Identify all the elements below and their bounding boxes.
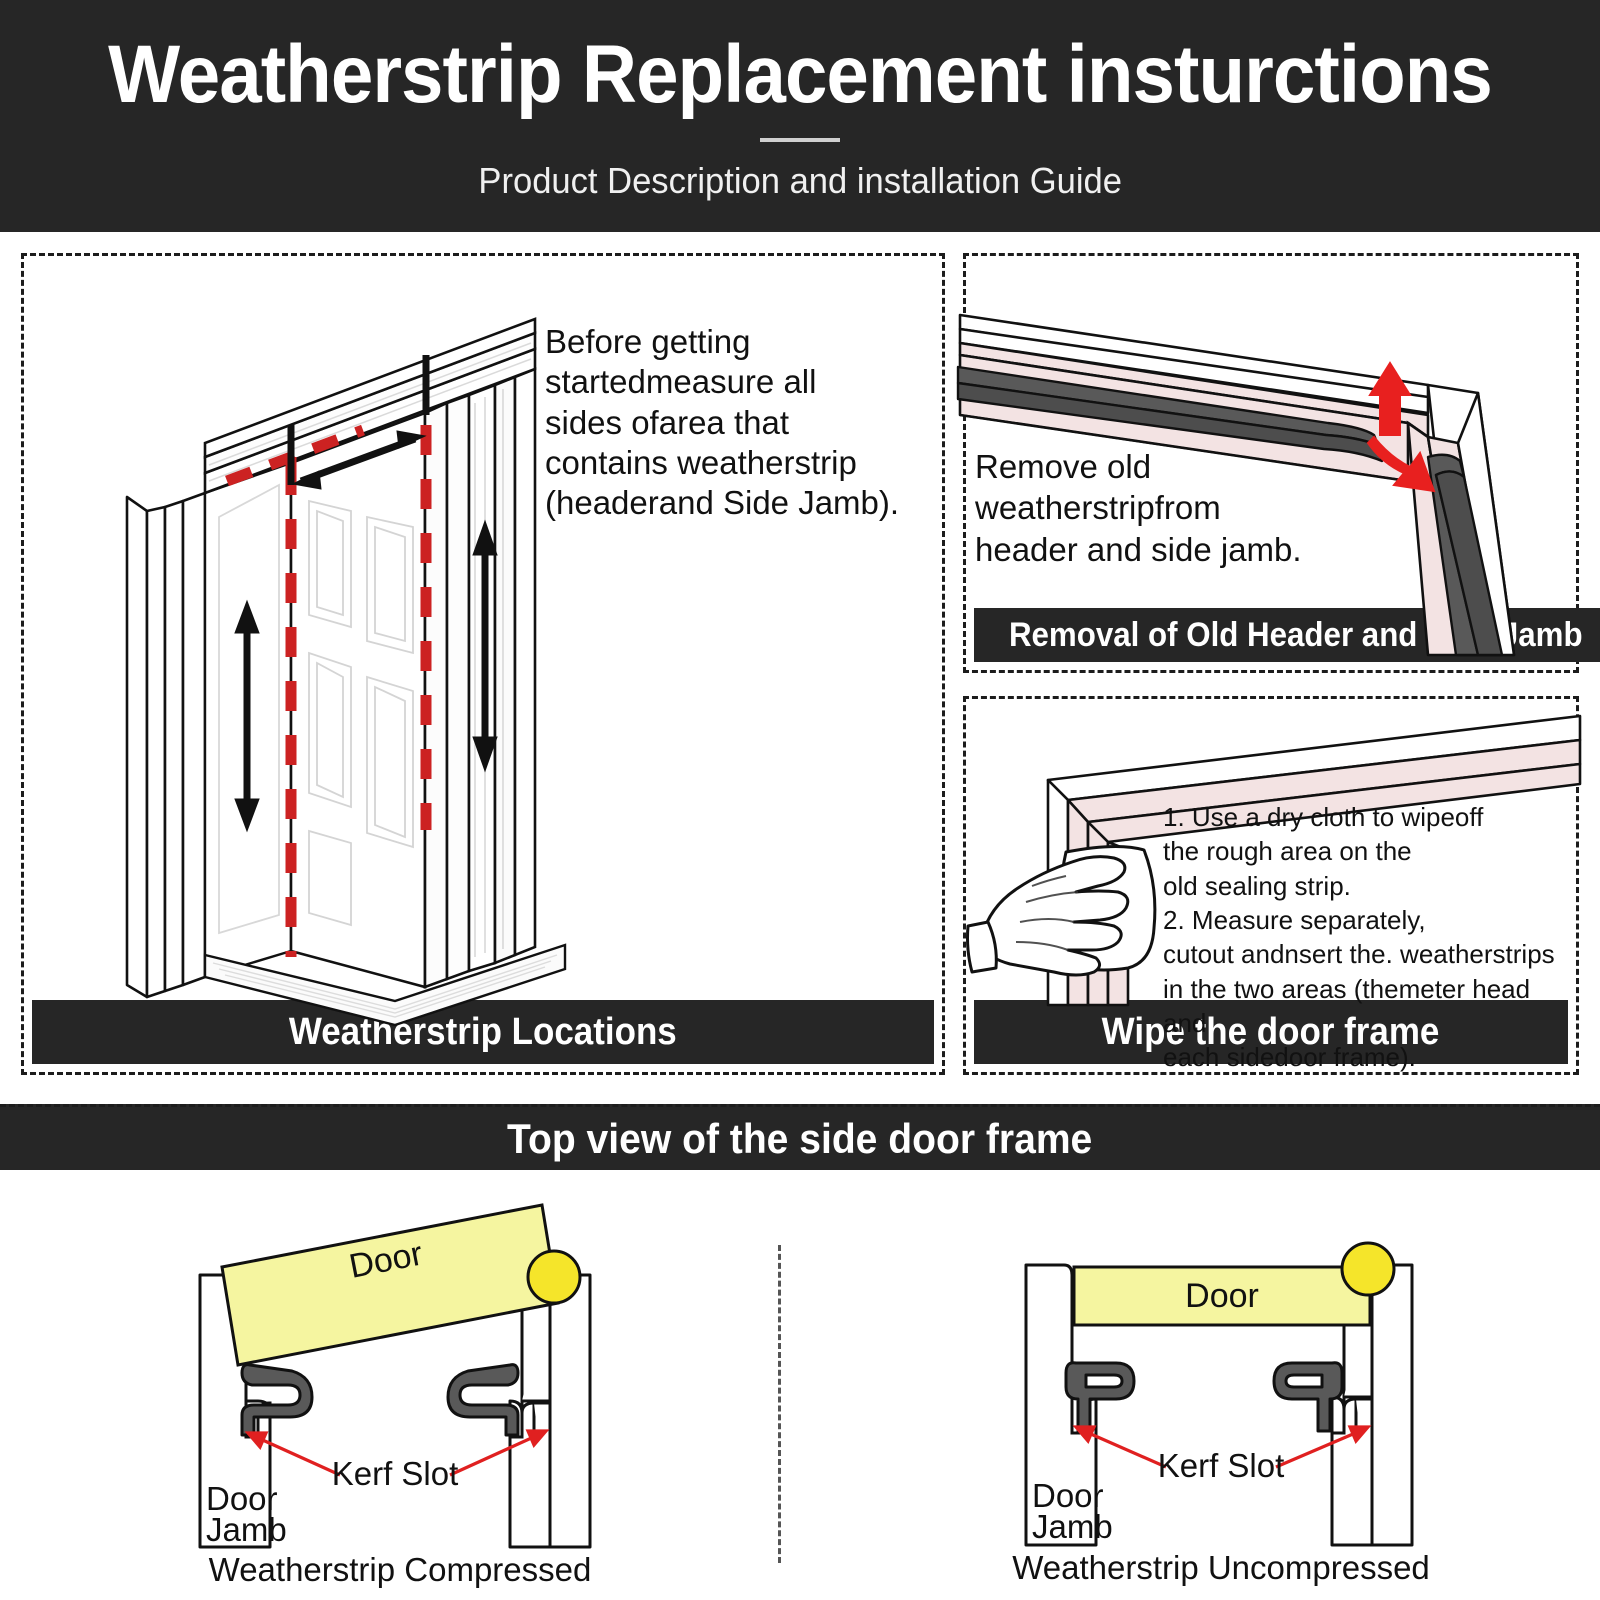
text-line: 2. Measure separately,: [1163, 903, 1573, 937]
text-line: in the two areas (themeter head and: [1163, 972, 1573, 1041]
door-label-right: Door: [1185, 1277, 1259, 1315]
door-jamb-label-left-line2: Jamb: [206, 1511, 287, 1548]
text-line: Before getting: [545, 322, 915, 362]
page-title: Weatherstrip Replacement insturctions: [108, 34, 1492, 116]
locations-instruction-text: Before getting startedmeasure all sides …: [545, 322, 915, 523]
text-line: old sealing strip.: [1163, 869, 1573, 903]
kerf-slot-label-right: Kerf Slot: [1158, 1447, 1285, 1484]
text-line: each sidedoor frame).: [1163, 1040, 1573, 1074]
door-frame-isometric-diagram: [95, 285, 565, 1025]
wipe-instruction-text: 1. Use a dry cloth to wipeoff the rough …: [1163, 800, 1573, 1075]
door-knob-icon: [528, 1251, 580, 1303]
door-jamb-label-right-line2: Jamb: [1032, 1508, 1113, 1545]
topview-right-caption: Weatherstrip Uncompressed: [1012, 1549, 1430, 1586]
page-subtitle: Product Description and installation Gui…: [478, 160, 1122, 202]
text-line: the rough area on the: [1163, 834, 1573, 868]
topview-uncompressed-diagram: Door Kerf Slot Door Jamb Weathe: [968, 1185, 1468, 1585]
door-panel-tilted: [222, 1205, 558, 1365]
title-divider: [760, 138, 840, 142]
topview-center-divider: [778, 1245, 781, 1563]
removal-instruction-text: Remove old weatherstripfrom header and s…: [975, 446, 1325, 570]
text-line: Remove old: [975, 446, 1325, 487]
text-line: contains weatherstrip: [545, 443, 915, 483]
door-knob-icon: [1342, 1243, 1394, 1295]
topview-title: Top view of the side door frame: [507, 1115, 1092, 1163]
text-line: 1. Use a dry cloth to wipeoff: [1163, 800, 1573, 834]
text-line: sides ofarea that: [545, 403, 915, 443]
weatherstrip-seal-right-compressed: [448, 1365, 518, 1435]
topview-section-header: Top view of the side door frame: [0, 1104, 1600, 1170]
text-line: cutout andnsert the. weatherstrips: [1163, 937, 1573, 971]
text-line: header and side jamb.: [975, 529, 1325, 570]
text-line: startedmeasure all: [545, 362, 915, 402]
text-line: weatherstripfrom: [975, 487, 1325, 528]
topview-compressed-diagram: Door Kerf Slot Door Jamb: [150, 1185, 650, 1585]
infographic-page: Weatherstrip Replacement insturctions Pr…: [0, 0, 1600, 1600]
kerf-slot-label-left: Kerf Slot: [332, 1455, 459, 1492]
text-line: (headerand Side Jamb).: [545, 483, 915, 523]
page-header: Weatherstrip Replacement insturctions Pr…: [0, 0, 1600, 232]
topview-left-caption: Weatherstrip Compressed: [209, 1551, 592, 1588]
